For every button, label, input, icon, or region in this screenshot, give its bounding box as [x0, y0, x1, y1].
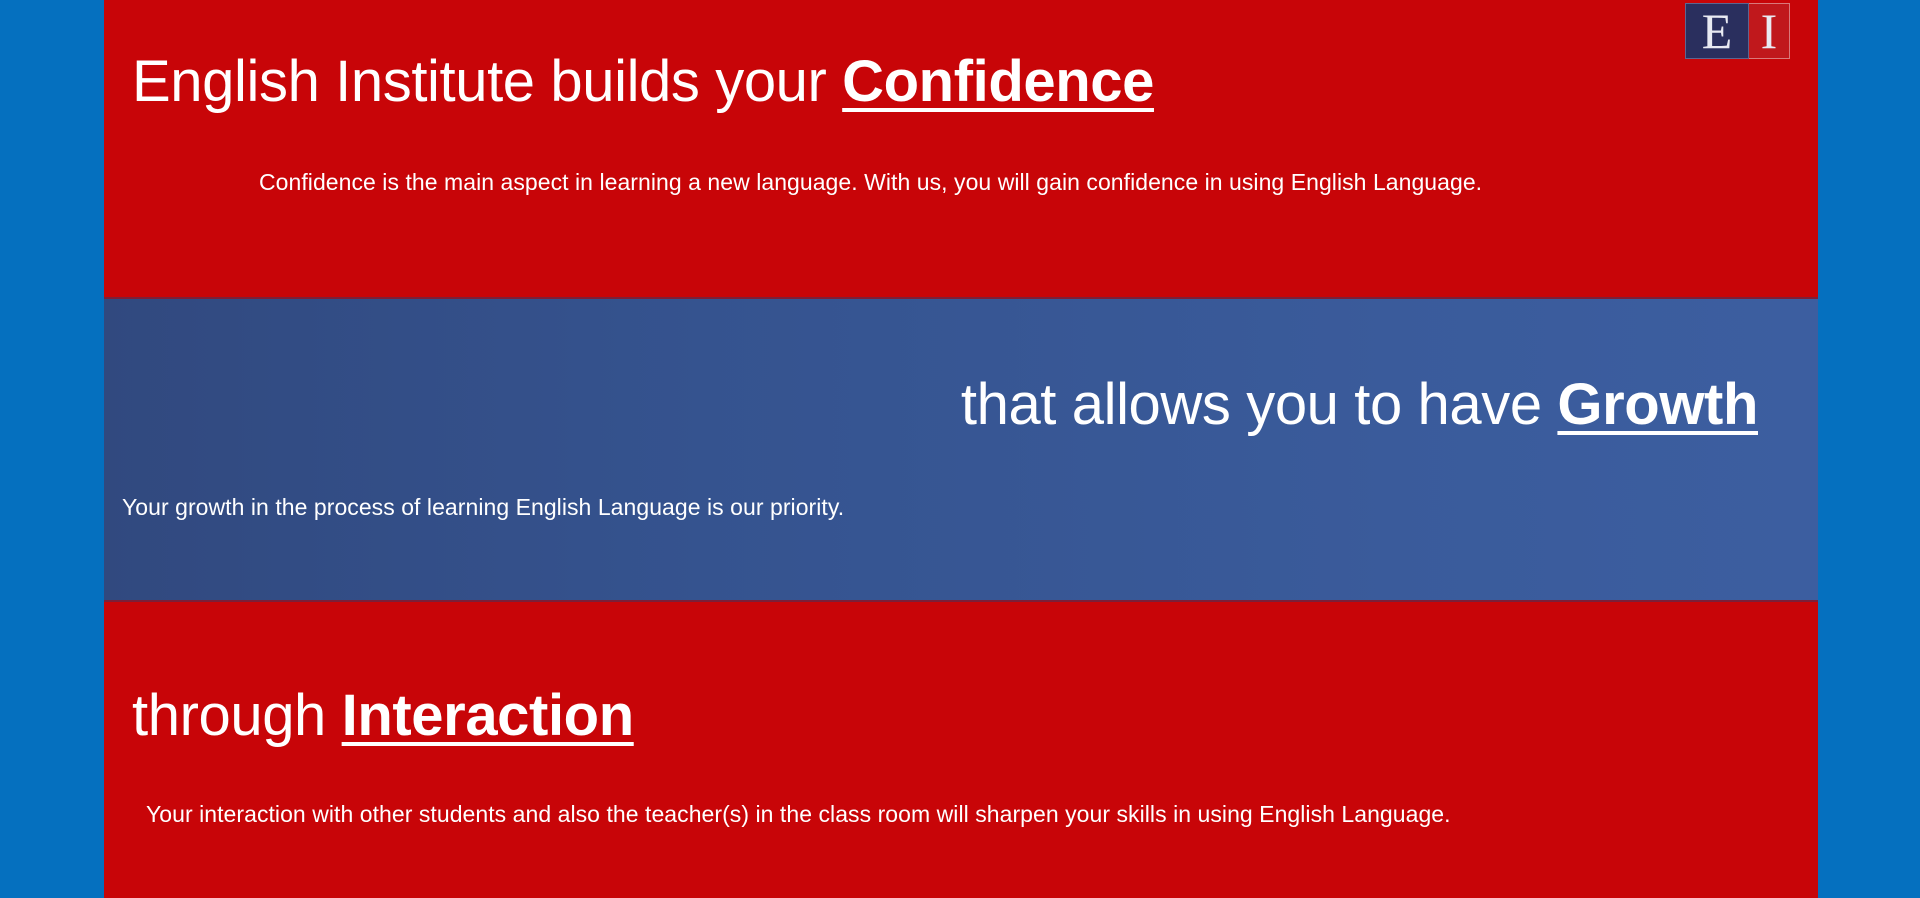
heading-interaction-accent: Interaction [342, 683, 634, 748]
panel-growth: that allows you to have Growth Your grow… [104, 297, 1818, 600]
panel-interaction: through Interaction Your interaction wit… [104, 600, 1818, 898]
heading-confidence-prefix: English Institute builds your [132, 49, 842, 114]
logo-letter-i: I [1749, 3, 1790, 59]
panel-confidence: English Institute builds your Confidence… [104, 0, 1818, 297]
heading-confidence-accent: Confidence [842, 49, 1154, 114]
heading-growth: that allows you to have Growth [961, 373, 1758, 438]
heading-growth-prefix: that allows you to have [961, 372, 1558, 437]
heading-interaction-prefix: through [132, 683, 342, 748]
heading-confidence: English Institute builds your Confidence [132, 50, 1154, 115]
subtitle-interaction: Your interaction with other students and… [146, 800, 1451, 829]
english-institute-logo: E I [1685, 3, 1795, 59]
heading-growth-accent: Growth [1557, 372, 1758, 437]
slide-canvas: English Institute builds your Confidence… [0, 0, 1920, 898]
subtitle-confidence: Confidence is the main aspect in learnin… [259, 168, 1482, 197]
subtitle-growth: Your growth in the process of learning E… [122, 493, 844, 522]
heading-interaction: through Interaction [132, 684, 634, 749]
logo-letter-e: E [1685, 3, 1749, 59]
